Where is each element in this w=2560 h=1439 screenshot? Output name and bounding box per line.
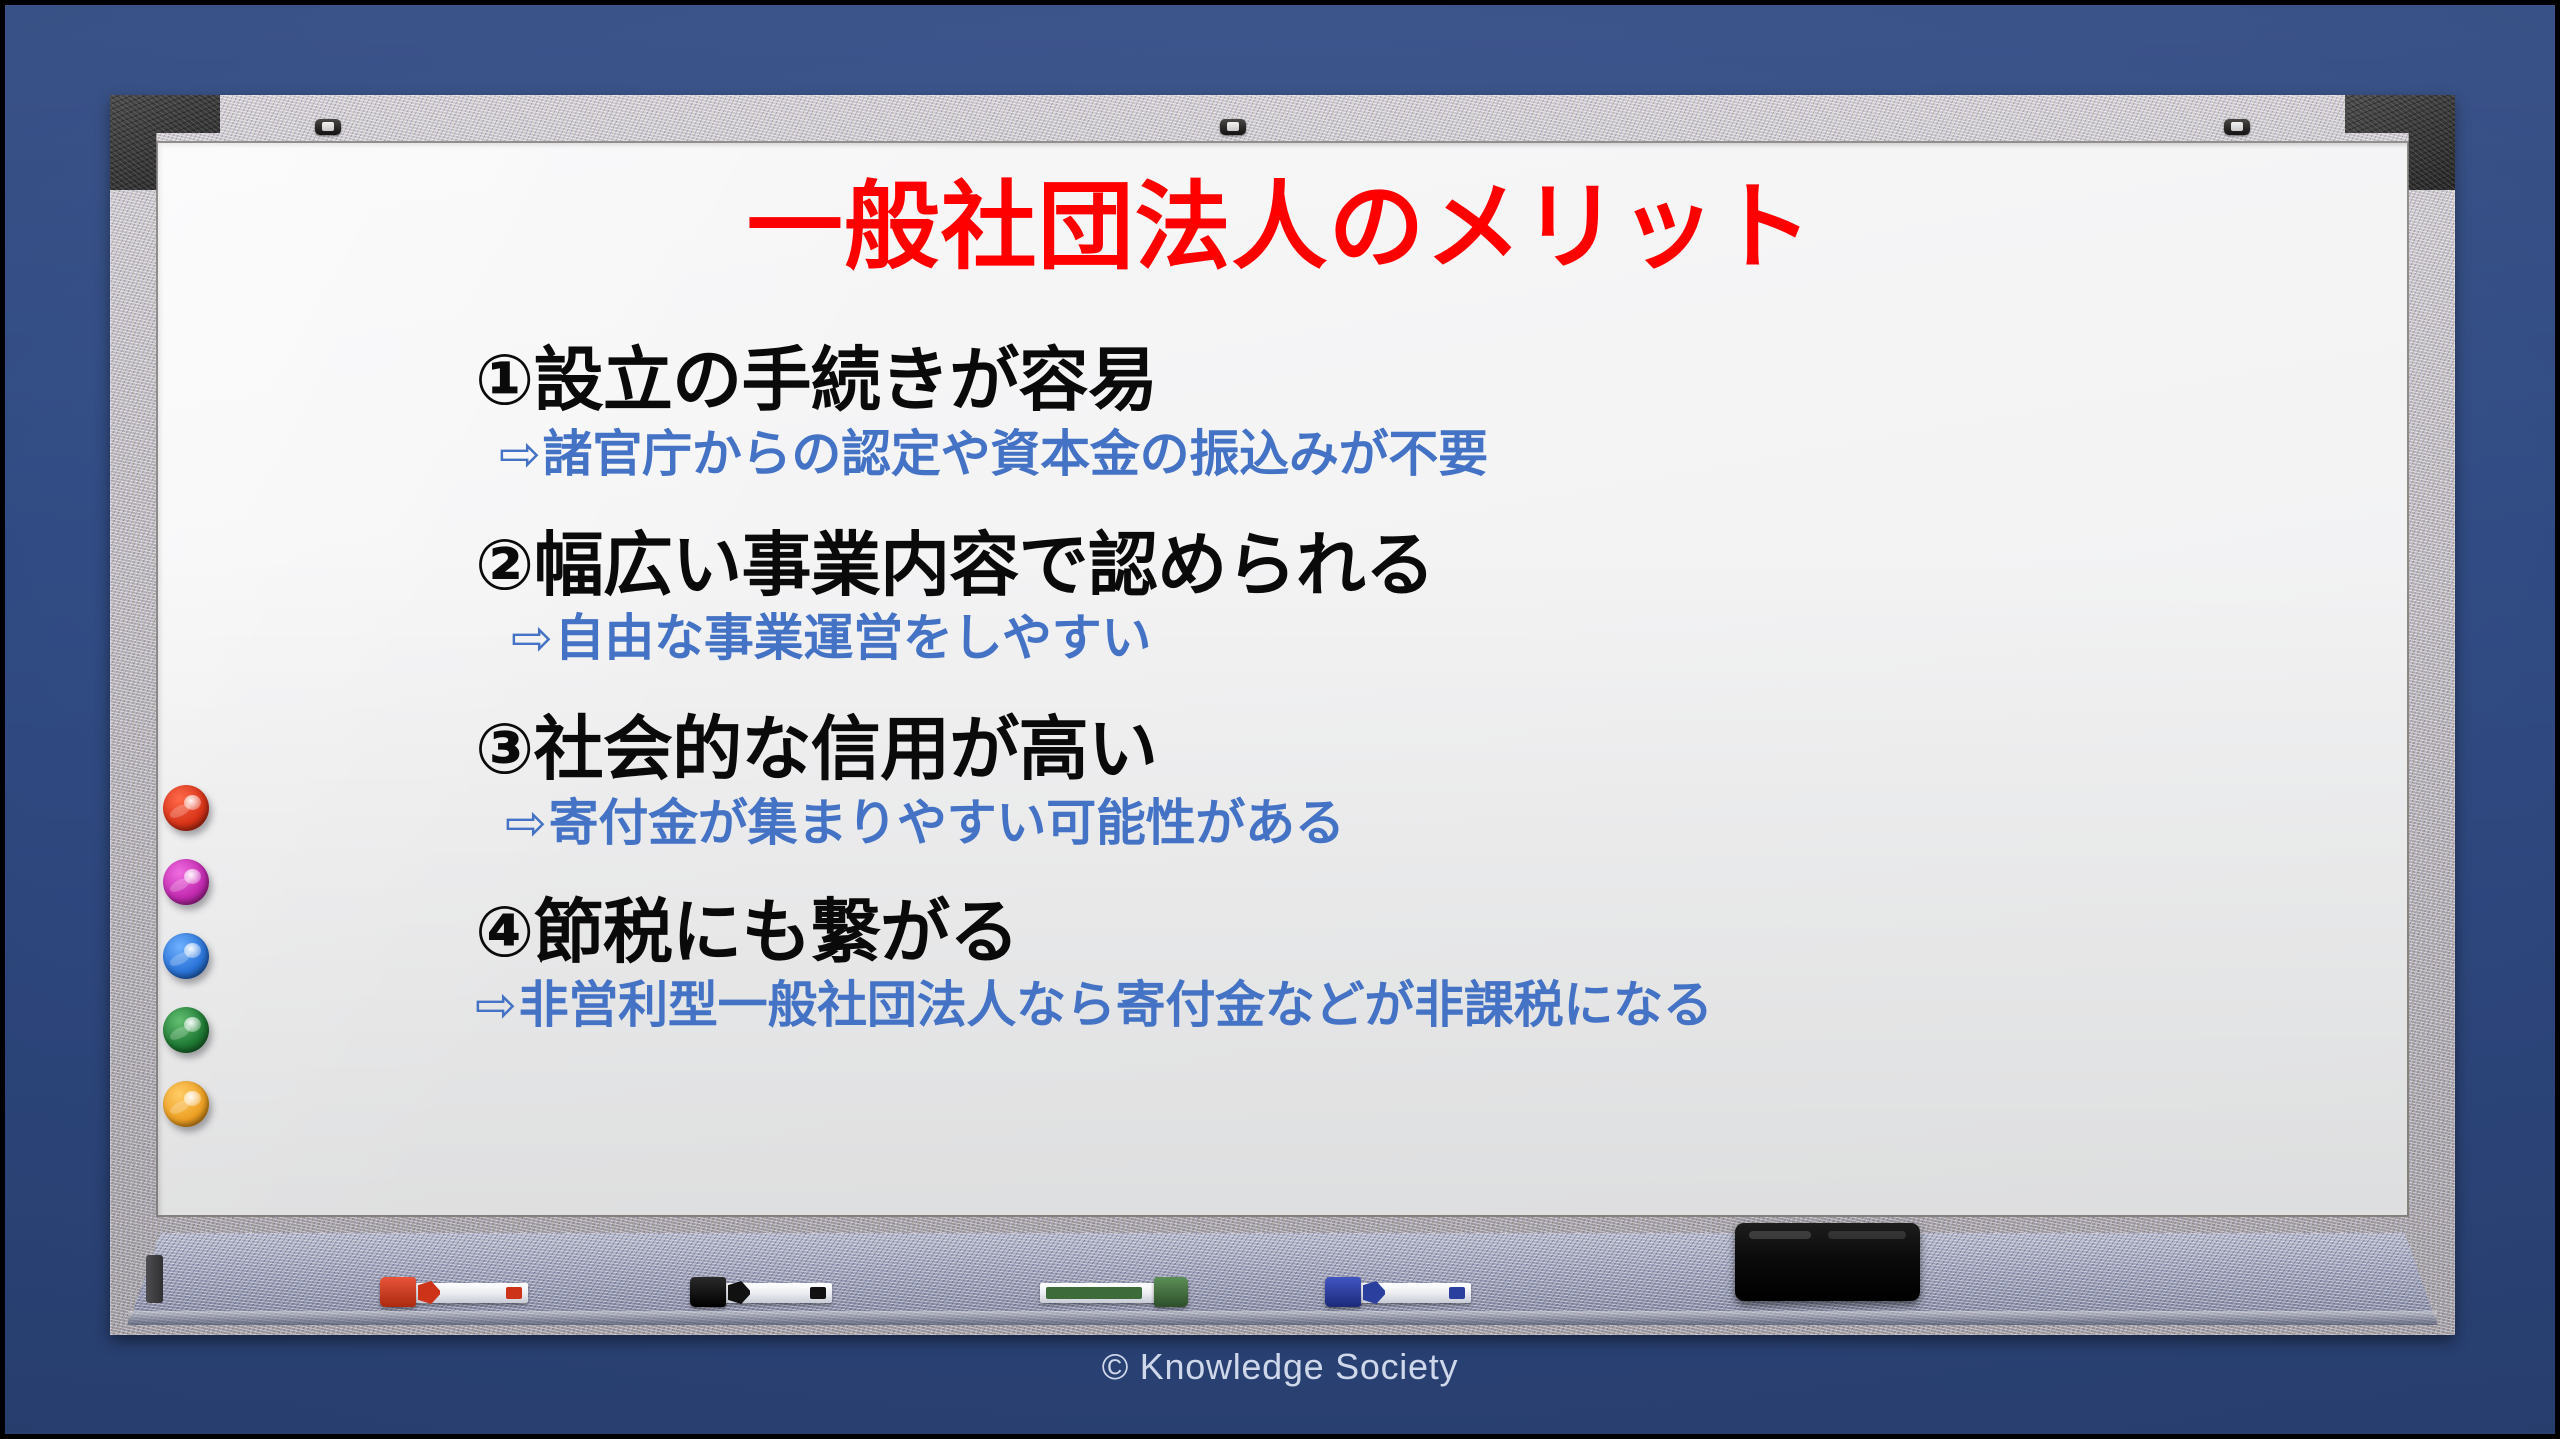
magnet-blue[interactable]: [163, 933, 209, 979]
arrow-right-icon: ⇨: [499, 425, 541, 483]
marker-black-cap: [690, 1277, 726, 1307]
merit-detail-4-text: 非営利型一般社団法人なら寄付金などが非課税になる: [519, 976, 1713, 1034]
page-title: 一般社団法人のメリット: [5, 177, 2555, 278]
list-item: ④節税にも繋がる ⇨非営利型一般社団法人なら寄付金などが非課税になる: [475, 895, 2435, 1034]
magnet-magenta[interactable]: [163, 859, 209, 905]
merit-detail-2: ⇨自由な事業運営をしやすい: [511, 611, 2435, 666]
list-item: ③社会的な信用が高い ⇨寄付金が集まりやすい可能性がある: [475, 712, 2435, 851]
marker-green[interactable]: [1040, 1281, 1160, 1305]
merit-detail-2-text: 自由な事業運営をしやすい: [555, 609, 1152, 667]
merit-list: ①設立の手続きが容易 ⇨諸官庁からの認定や資本金の振込みが不要 ②幅広い事業内容…: [475, 343, 2435, 1033]
list-spacer: [475, 666, 2435, 712]
marker-green-band: [1046, 1287, 1142, 1299]
marker-red[interactable]: [410, 1281, 528, 1305]
list-spacer: [475, 482, 2435, 528]
list-spacer: [475, 851, 2435, 895]
copyright-footer: © Knowledge Society: [5, 1346, 2555, 1388]
frame-bolt-center-icon: [1220, 119, 1246, 135]
marker-blue-band: [1449, 1287, 1465, 1299]
arrow-right-icon: ⇨: [475, 976, 517, 1034]
arrow-right-icon: ⇨: [505, 794, 547, 852]
merit-heading-1: ①設立の手続きが容易: [475, 343, 2435, 419]
marker-blue[interactable]: [1355, 1281, 1471, 1305]
merit-detail-4: ⇨非営利型一般社団法人なら寄付金などが非課税になる: [475, 978, 2435, 1033]
board-eraser[interactable]: [1735, 1223, 1920, 1301]
slide-canvas: 一般社団法人のメリット ①設立の手続きが容易 ⇨諸官庁からの認定や資本金の振込み…: [0, 0, 2560, 1439]
marker-blue-cap: [1325, 1277, 1361, 1307]
marker-red-band: [506, 1287, 522, 1299]
frame-bolt-left-icon: [315, 119, 341, 135]
list-item: ①設立の手続きが容易 ⇨諸官庁からの認定や資本金の振込みが不要: [475, 343, 2435, 482]
merit-detail-1: ⇨諸官庁からの認定や資本金の振込みが不要: [499, 427, 2435, 482]
frame-bolt-right-icon: [2224, 119, 2250, 135]
marker-red-cap: [380, 1277, 416, 1307]
list-item: ②幅広い事業内容で認められる ⇨自由な事業運営をしやすい: [475, 528, 2435, 667]
merit-detail-3-text: 寄付金が集まりやすい可能性がある: [549, 794, 1345, 852]
marker-tray-lip: [128, 1311, 2437, 1325]
marker-black-band: [810, 1287, 826, 1299]
merit-heading-3: ③社会的な信用が高い: [475, 712, 2435, 788]
merit-heading-4: ④節税にも繋がる: [475, 895, 2435, 971]
tray-end-cap: [146, 1255, 163, 1303]
magnet-green[interactable]: [163, 1007, 209, 1053]
magnet-orange[interactable]: [163, 1081, 209, 1127]
merit-heading-2: ②幅広い事業内容で認められる: [475, 528, 2435, 604]
arrow-right-icon: ⇨: [511, 609, 553, 667]
marker-green-cap: [1154, 1277, 1188, 1307]
merit-detail-1-text: 諸官庁からの認定や資本金の振込みが不要: [543, 425, 1488, 483]
magnet-red[interactable]: [163, 785, 209, 831]
marker-black[interactable]: [720, 1281, 832, 1305]
merit-detail-3: ⇨寄付金が集まりやすい可能性がある: [505, 796, 2435, 851]
